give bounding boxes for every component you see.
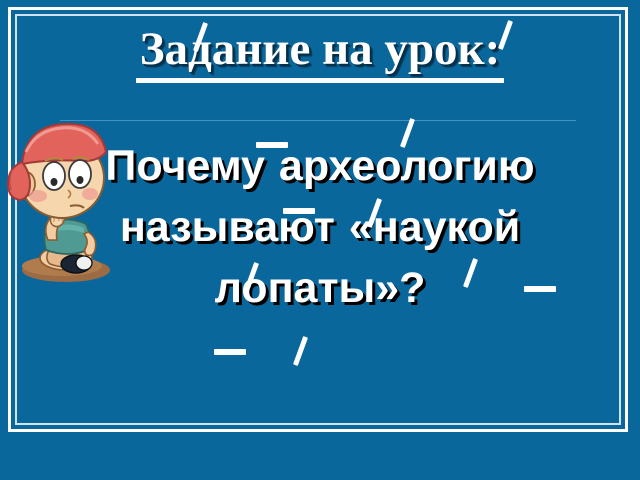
accent-mark-11: [214, 349, 246, 355]
accent-mark-10: [293, 336, 308, 366]
question-text: Почему археологию называют «наукой лопат…: [105, 142, 534, 312]
page-title: Задание на урок:: [0, 26, 640, 83]
heading-divider: [60, 120, 576, 121]
slide-canvas: Задание на урок: Почему археологию назыв…: [0, 0, 640, 480]
page-title-text: Задание на урок:: [136, 26, 505, 83]
accent-mark-3: [256, 142, 288, 148]
thinking-boy-icon: [4, 112, 122, 284]
accent-mark-5: [283, 208, 315, 214]
accent-mark-9: [524, 286, 556, 292]
